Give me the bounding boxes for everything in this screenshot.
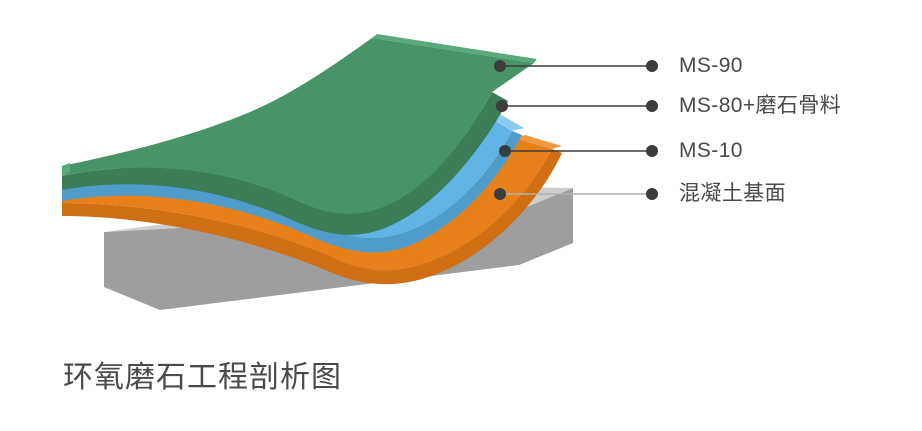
layer-label-ms80: MS-80+磨石骨料	[679, 95, 841, 116]
layer-label-concrete: 混凝土基面	[679, 183, 786, 204]
leader-dot-source-ms90	[494, 60, 506, 72]
leader-dot-target-ms10	[646, 145, 658, 157]
diagram-title: 环氧磨石工程剖析图	[63, 352, 342, 396]
leader-line-group-ms80	[496, 100, 658, 112]
leader-dot-source-ms10	[499, 145, 511, 157]
leader-dot-target-concrete	[646, 188, 658, 200]
leader-dot-target-ms80	[646, 100, 658, 112]
leader-dot-source-concrete	[494, 188, 506, 200]
leader-dot-source-ms80	[496, 100, 508, 112]
leader-dot-target-ms90	[646, 60, 658, 72]
layer-label-ms90: MS-90	[679, 55, 743, 76]
layer-label-ms10: MS-10	[679, 140, 743, 161]
diagram-stage: MS-90 MS-80+磨石骨料 MS-10 混凝土基面 环氧磨石工程剖析图	[0, 0, 922, 431]
